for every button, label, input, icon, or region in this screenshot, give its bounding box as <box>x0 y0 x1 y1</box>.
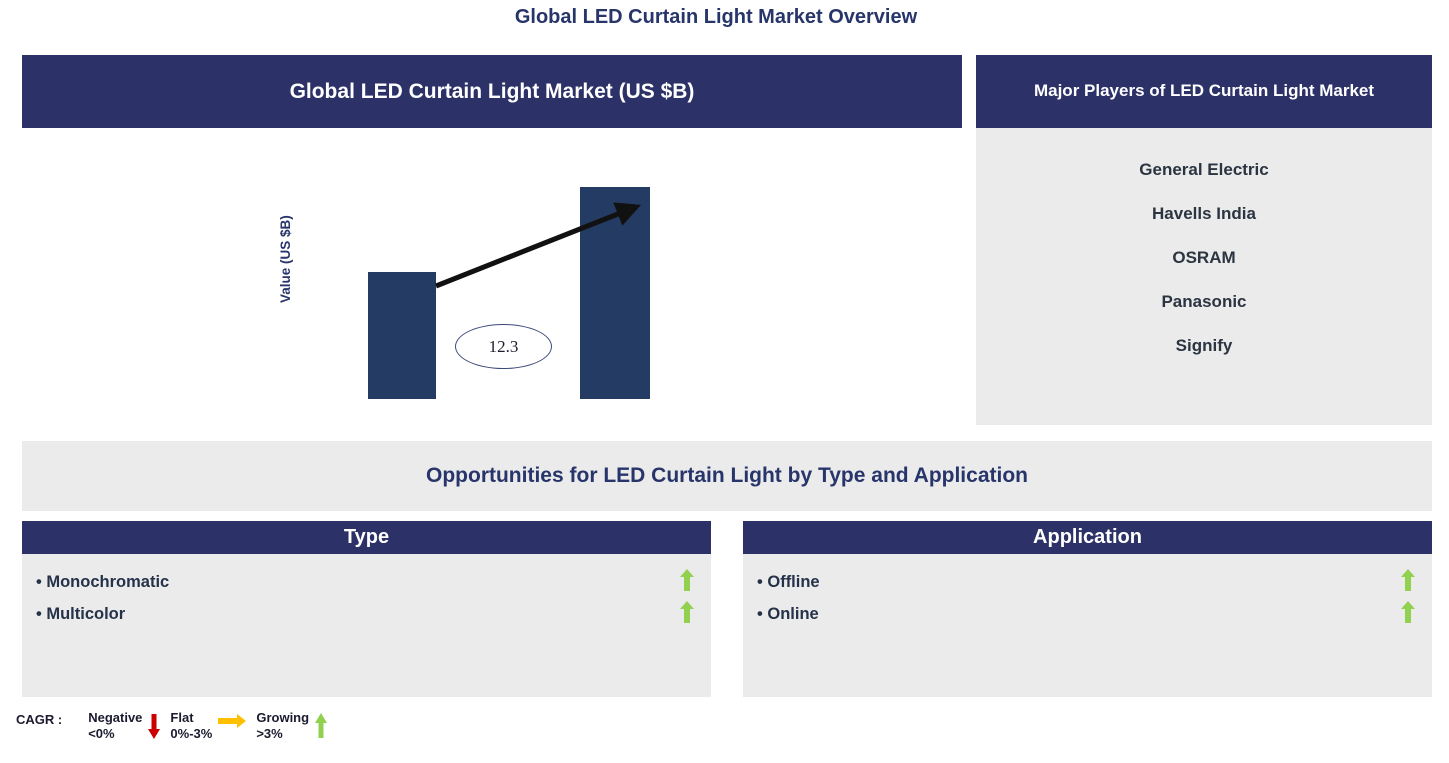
list-item: • Multicolor <box>22 598 711 630</box>
application-segment-panel: Application • Offline • Online <box>743 521 1432 697</box>
list-item: • Offline <box>743 566 1432 598</box>
growth-trend-arrow-icon <box>22 128 962 425</box>
opportunities-band: Opportunities for LED Curtain Light by T… <box>22 441 1432 511</box>
type-item-label: • Monochromatic <box>36 573 169 592</box>
cagr-legend-flat-name: Flat <box>170 710 212 726</box>
application-item-label: • Offline <box>757 573 820 592</box>
application-panel-header: Application <box>743 521 1432 554</box>
application-item-label: • Online <box>757 605 819 624</box>
major-players-list: General Electric Havells India OSRAM Pan… <box>976 128 1432 368</box>
major-players-header: Major Players of LED Curtain Light Marke… <box>976 55 1432 128</box>
type-segment-list: • Monochromatic • Multicolor <box>22 554 711 630</box>
list-item: Havells India <box>976 192 1432 236</box>
down-arrow-icon <box>147 712 161 743</box>
cagr-legend-flat: Flat 0%-3% <box>170 710 247 743</box>
opportunities-title: Opportunities for LED Curtain Light by T… <box>426 464 1028 488</box>
major-players-panel: Major Players of LED Curtain Light Marke… <box>976 55 1432 425</box>
growing-up-arrow-icon <box>1400 568 1416 597</box>
cagr-legend-title: CAGR : <box>16 710 62 727</box>
chart-y-axis-label: Value (US $B) <box>278 215 293 303</box>
application-segment-list: • Offline • Online <box>743 554 1432 630</box>
major-players-title: Major Players of LED Curtain Light Marke… <box>1034 80 1374 102</box>
right-arrow-icon <box>217 712 247 735</box>
growing-up-arrow-icon <box>679 568 695 597</box>
bar-2031 <box>580 187 650 399</box>
cagr-legend-negative-name: Negative <box>88 710 142 726</box>
cagr-legend-growing: Growing >3% <box>256 710 328 743</box>
cagr-legend-growing-range: >3% <box>256 726 309 742</box>
growing-up-arrow-icon <box>679 600 695 629</box>
cagr-callout-bubble: 12.3 <box>455 324 552 369</box>
list-item: • Online <box>743 598 1432 630</box>
cagr-legend: CAGR : Negative <0% Flat 0%-3% Growing >… <box>16 710 337 743</box>
list-item: OSRAM <box>976 236 1432 280</box>
page-title: Global LED Curtain Light Market Overview <box>0 6 1432 29</box>
type-item-label: • Multicolor <box>36 605 125 624</box>
list-item: Panasonic <box>976 280 1432 324</box>
market-panel-title: Global LED Curtain Light Market (US $B) <box>290 80 695 104</box>
list-item: General Electric <box>976 148 1432 192</box>
application-panel-title: Application <box>1033 526 1142 549</box>
market-overview-panel: Global LED Curtain Light Market (US $B) … <box>22 55 962 425</box>
growing-up-arrow-icon <box>1400 600 1416 629</box>
type-panel-header: Type <box>22 521 711 554</box>
cagr-legend-negative: Negative <0% <box>88 710 161 743</box>
cagr-legend-growing-name: Growing <box>256 710 309 726</box>
cagr-value: 12.3 <box>489 337 519 357</box>
market-panel-body: Value (US $B) 2025 2031 12.3 Source : Lu… <box>22 128 962 425</box>
list-item: • Monochromatic <box>22 566 711 598</box>
market-bar-chart: Value (US $B) 2025 2031 12.3 <box>22 128 962 425</box>
list-item: Signify <box>976 324 1432 368</box>
type-panel-title: Type <box>344 526 389 549</box>
market-panel-header: Global LED Curtain Light Market (US $B) <box>22 55 962 128</box>
cagr-legend-negative-range: <0% <box>88 726 142 742</box>
up-arrow-icon <box>314 712 328 743</box>
cagr-legend-flat-range: 0%-3% <box>170 726 212 742</box>
type-segment-panel: Type • Monochromatic • Multicolor <box>22 521 711 697</box>
bar-2025 <box>368 272 436 399</box>
